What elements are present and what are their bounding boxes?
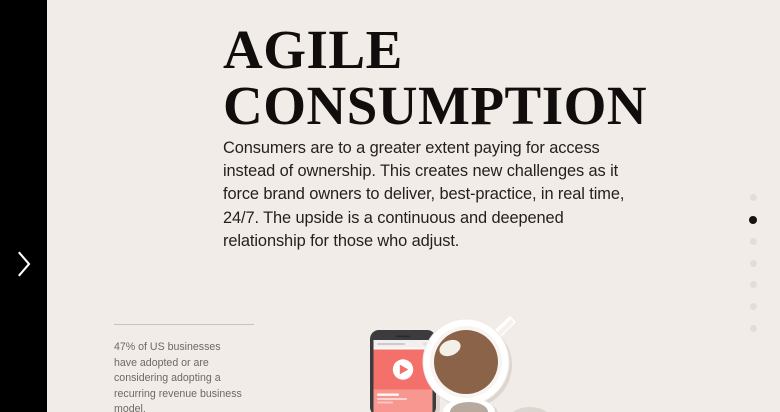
chevron-right-icon [16, 251, 32, 277]
page-title: AGILE CONSUMPTION [223, 22, 693, 134]
pagination-dot-4[interactable] [750, 260, 757, 267]
second-coffee-cup-icon [443, 398, 550, 412]
body-paragraph: Consumers are to a greater extent paying… [223, 137, 647, 253]
illustration-phone-and-coffee [360, 310, 560, 412]
stat-divider [114, 324, 254, 325]
pagination-dot-3[interactable] [750, 238, 757, 245]
page-title-line-1: AGILE [223, 19, 403, 80]
pagination-dot-6[interactable] [750, 303, 757, 310]
pagination-dot-5[interactable] [750, 281, 757, 288]
play-button-icon [393, 359, 413, 379]
pagination-dots[interactable] [746, 194, 760, 332]
pagination-dot-7[interactable] [750, 325, 757, 332]
slide-canvas: AGILE CONSUMPTION Consumers are to a gre… [0, 0, 780, 412]
page-title-line-2: CONSUMPTION [223, 78, 693, 134]
pagination-dot-1[interactable] [750, 194, 757, 201]
coffee-cup-icon [423, 316, 516, 408]
left-nav-rail [0, 0, 47, 412]
next-slide-button[interactable] [0, 243, 47, 285]
pagination-dot-2[interactable] [749, 216, 757, 224]
stat-caption: 47% of US businesses have adopted or are… [114, 340, 246, 412]
